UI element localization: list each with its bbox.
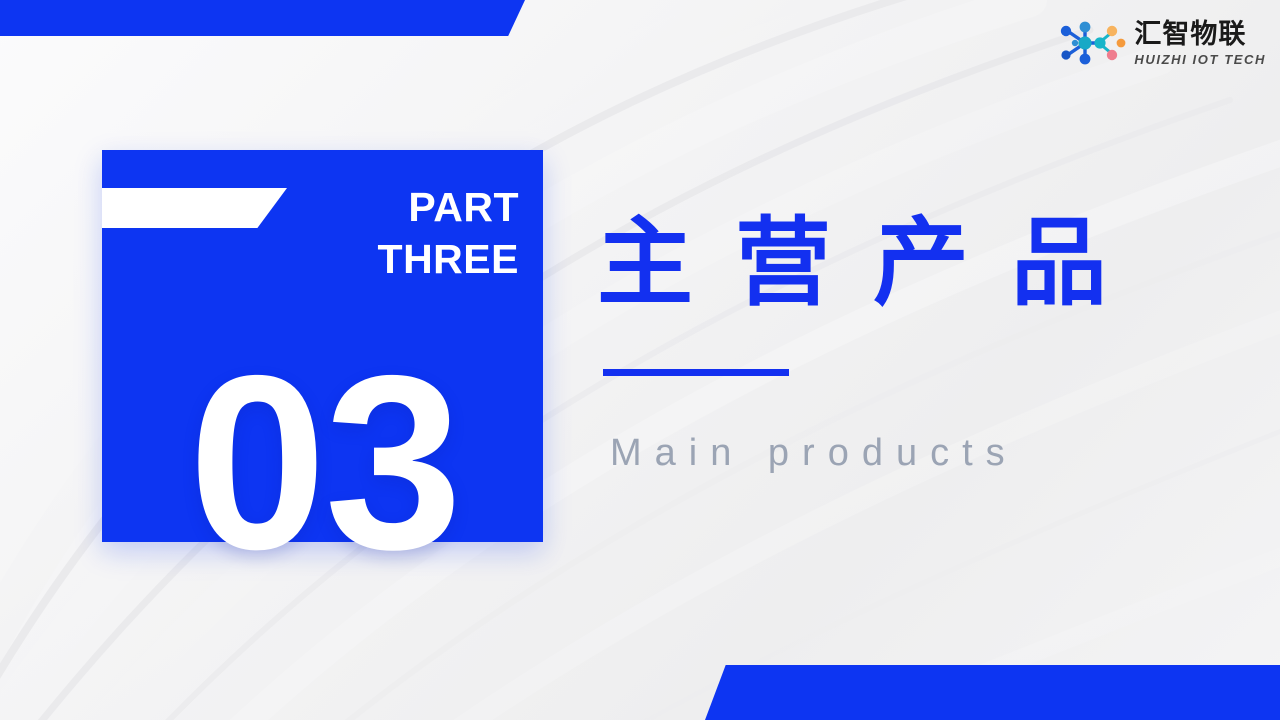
part-label: PART THREE	[259, 182, 519, 285]
part-label-line1: PART	[259, 182, 519, 234]
logo-text-block: 汇智物联 HUIZHI IOT TECH	[1134, 21, 1266, 66]
section-number: 03	[102, 338, 547, 586]
part-label-line2: THREE	[259, 234, 519, 286]
logo-name-en: HUIZHI IOT TECH	[1134, 53, 1266, 66]
bottom-right-accent-band	[705, 665, 1280, 720]
slide-canvas: PART THREE 03 主营产品 Main products	[0, 0, 1280, 720]
title-underline-rule	[603, 369, 789, 376]
logo-name-cn: 汇智物联	[1134, 21, 1266, 48]
page-subtitle-en: Main products	[610, 432, 1018, 475]
section-number-panel: PART THREE 03	[102, 150, 543, 542]
page-title-cn: 主营产品	[597, 212, 1149, 316]
top-left-accent-band	[0, 0, 525, 36]
molecule-network-icon	[1055, 20, 1127, 66]
brand-logo: 汇智物联 HUIZHI IOT TECH	[1055, 20, 1266, 66]
